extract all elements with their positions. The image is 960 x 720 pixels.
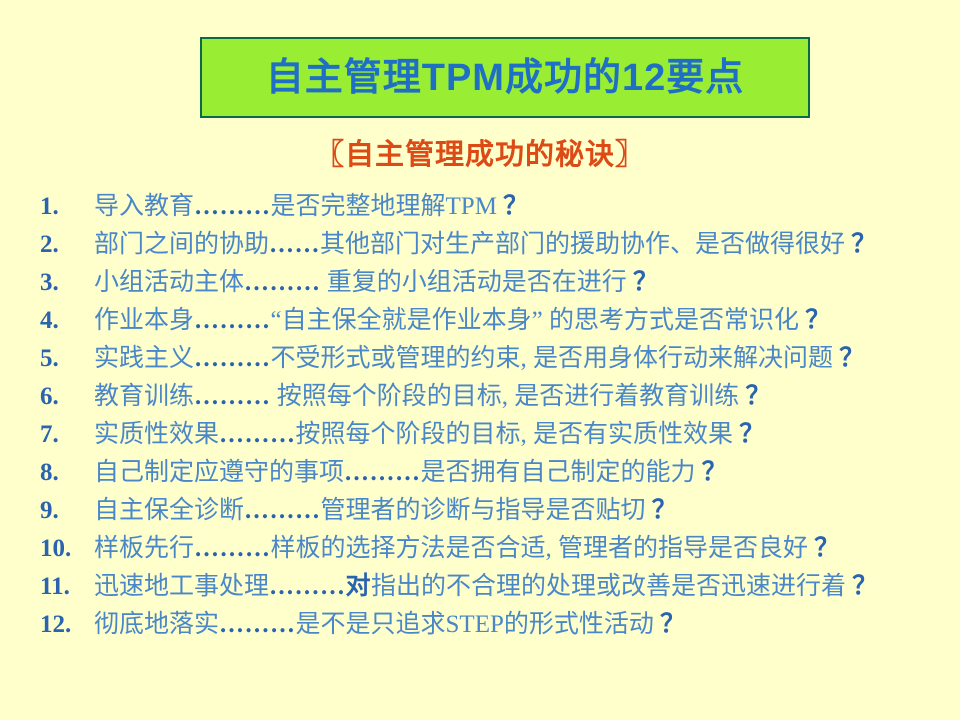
list-item-question-mark: ？ [654, 611, 685, 638]
list-item-question-mark: ？ [808, 535, 839, 562]
points-list: 1.导入教育………是否完整地理解TPM ？2.部门之间的协助……其他部门对生产部… [38, 188, 943, 644]
list-item-dot-leader: ……… [219, 421, 296, 448]
list-item-question-mark: ？ [646, 497, 677, 524]
list-item-question-mark: ？ [845, 231, 876, 258]
list-item-detail: 是否拥有自己制定的能力 [421, 459, 696, 486]
slide-canvas: 自主管理TPM成功的12要点 〖自主管理成功的秘诀〗 1.导入教育………是否完整… [0, 0, 960, 720]
list-item-dot-leader: …… [269, 231, 320, 258]
list-item-body: 自己制定应遵守的事项………是否拥有自己制定的能力 ？ [94, 454, 943, 492]
list-item-dot-leader: ……… [244, 269, 321, 296]
list-item: 6.教育训练……… 按照每个阶段的目标, 是否进行着教育训练 ？ [38, 378, 943, 416]
list-item-topic: 样板先行 [94, 535, 194, 562]
list-item-detail: 不受形式或管理的约束, 是否用身体行动来解决问题 [271, 345, 834, 372]
list-item: 11.迅速地工事处理………对指出的不合理的处理或改善是否迅速进行着 ？ [38, 568, 943, 606]
list-item-number: 3. [38, 264, 94, 302]
list-item-body: 教育训练……… 按照每个阶段的目标, 是否进行着教育训练 ？ [94, 378, 943, 416]
list-item-detail: 重复的小组活动是否在进行 [321, 269, 627, 296]
list-item-body: 导入教育………是否完整地理解TPM ？ [94, 188, 943, 226]
list-item-topic: 彻底地落实 [94, 611, 219, 638]
list-item-number: 8. [38, 454, 94, 492]
list-item-detail: 管理者的诊断与指导是否贴切 [321, 497, 646, 524]
list-item-dot-leader: ……… [219, 611, 296, 638]
list-item-number: 1. [38, 188, 94, 226]
list-item-detail: 是否完整地理解TPM [271, 193, 497, 220]
subtitle: 〖自主管理成功的秘诀〗 [0, 139, 960, 172]
list-item-topic: 实践主义 [94, 345, 194, 372]
list-item-detail: 按照每个阶段的目标, 是否进行着教育训练 [271, 383, 740, 410]
list-item-dot-leader: ……… [344, 459, 421, 486]
list-item: 9.自主保全诊断………管理者的诊断与指导是否贴切 ？ [38, 492, 943, 530]
list-item-dot-leader: ……… [194, 193, 271, 220]
list-item-detail: 按照每个阶段的目标, 是否有实质性效果 [296, 421, 734, 448]
list-item-detail: “自主保全就是作业本身” 的思考方式是否常识化 [271, 307, 799, 334]
list-item-body: 作业本身………“自主保全就是作业本身” 的思考方式是否常识化 ？ [94, 302, 943, 340]
list-item-dot-leader: ……… [194, 535, 271, 562]
list-item-body: 彻底地落实………是不是只追求STEP的形式性活动 ？ [94, 606, 943, 644]
list-item-dot-leader: ……… [194, 345, 271, 372]
list-item-number: 7. [38, 416, 94, 454]
list-item-question-mark: ？ [799, 307, 830, 334]
list-item-number: 12. [38, 606, 94, 644]
list-item-question-mark: ？ [497, 193, 528, 220]
list-item-topic: 导入教育 [94, 193, 194, 220]
list-item-question-mark: ？ [627, 269, 658, 296]
list-item-dot-leader: ……… [194, 383, 271, 410]
list-item: 8.自己制定应遵守的事项………是否拥有自己制定的能力 ？ [38, 454, 943, 492]
list-item: 5.实践主义………不受形式或管理的约束, 是否用身体行动来解决问题 ？ [38, 340, 943, 378]
list-item-question-mark: ？ [833, 345, 864, 372]
list-item: 2.部门之间的协助……其他部门对生产部门的援助协作、是否做得很好 ？ [38, 226, 943, 264]
list-item-question-mark: ？ [733, 421, 764, 448]
list-item-dot-leader: ……… [244, 497, 321, 524]
list-item-number: 2. [38, 226, 94, 264]
list-item-question-mark: ？ [846, 573, 877, 600]
list-item: 4.作业本身………“自主保全就是作业本身” 的思考方式是否常识化 ？ [38, 302, 943, 340]
list-item-topic: 小组活动主体 [94, 269, 244, 296]
list-item: 7.实质性效果………按照每个阶段的目标, 是否有实质性效果 ？ [38, 416, 943, 454]
list-item: 12.彻底地落实………是不是只追求STEP的形式性活动 ？ [38, 606, 943, 644]
list-item-detail: 指出的不合理的处理或改善是否迅速进行着 [371, 573, 846, 600]
list-item-body: 自主保全诊断………管理者的诊断与指导是否贴切 ？ [94, 492, 943, 530]
list-item-topic: 迅速地工事处理 [94, 573, 269, 600]
list-item: 3.小组活动主体……… 重复的小组活动是否在进行 ？ [38, 264, 943, 302]
list-item-detail: 是不是只追求STEP的形式性活动 [296, 611, 654, 638]
list-item-number: 4. [38, 302, 94, 340]
list-item-topic: 实质性效果 [94, 421, 219, 448]
title-banner: 自主管理TPM成功的12要点 [200, 37, 810, 118]
list-item: 10.样板先行………样板的选择方法是否合适, 管理者的指导是否良好 ？ [38, 530, 943, 568]
list-item-body: 实践主义………不受形式或管理的约束, 是否用身体行动来解决问题 ？ [94, 340, 943, 378]
list-item-topic: 教育训练 [94, 383, 194, 410]
list-item-detail: 样板的选择方法是否合适, 管理者的指导是否良好 [271, 535, 809, 562]
list-item-number: 11. [38, 568, 94, 606]
list-item-question-mark: ？ [696, 459, 727, 486]
list-item-number: 6. [38, 378, 94, 416]
list-item-detail: 其他部门对生产部门的援助协作、是否做得很好 [320, 231, 845, 258]
list-item-topic: 部门之间的协助 [94, 231, 269, 258]
list-item-body: 小组活动主体……… 重复的小组活动是否在进行 ？ [94, 264, 943, 302]
list-item-body: 迅速地工事处理………对指出的不合理的处理或改善是否迅速进行着 ？ [94, 568, 943, 606]
page-title: 自主管理TPM成功的12要点 [266, 59, 744, 97]
list-item-body: 部门之间的协助……其他部门对生产部门的援助协作、是否做得很好 ？ [94, 226, 943, 264]
list-item-topic: 自己制定应遵守的事项 [94, 459, 344, 486]
list-item-number: 9. [38, 492, 94, 530]
list-item-number: 10. [38, 530, 94, 568]
list-item-dot-leader: ………对 [269, 573, 371, 600]
list-item-body: 实质性效果………按照每个阶段的目标, 是否有实质性效果 ？ [94, 416, 943, 454]
list-item-topic: 作业本身 [94, 307, 194, 334]
list-item: 1.导入教育………是否完整地理解TPM ？ [38, 188, 943, 226]
list-item-question-mark: ？ [739, 383, 770, 410]
list-item-body: 样板先行………样板的选择方法是否合适, 管理者的指导是否良好 ？ [94, 530, 943, 568]
list-item-topic: 自主保全诊断 [94, 497, 244, 524]
list-item-dot-leader: ……… [194, 307, 271, 334]
list-item-number: 5. [38, 340, 94, 378]
